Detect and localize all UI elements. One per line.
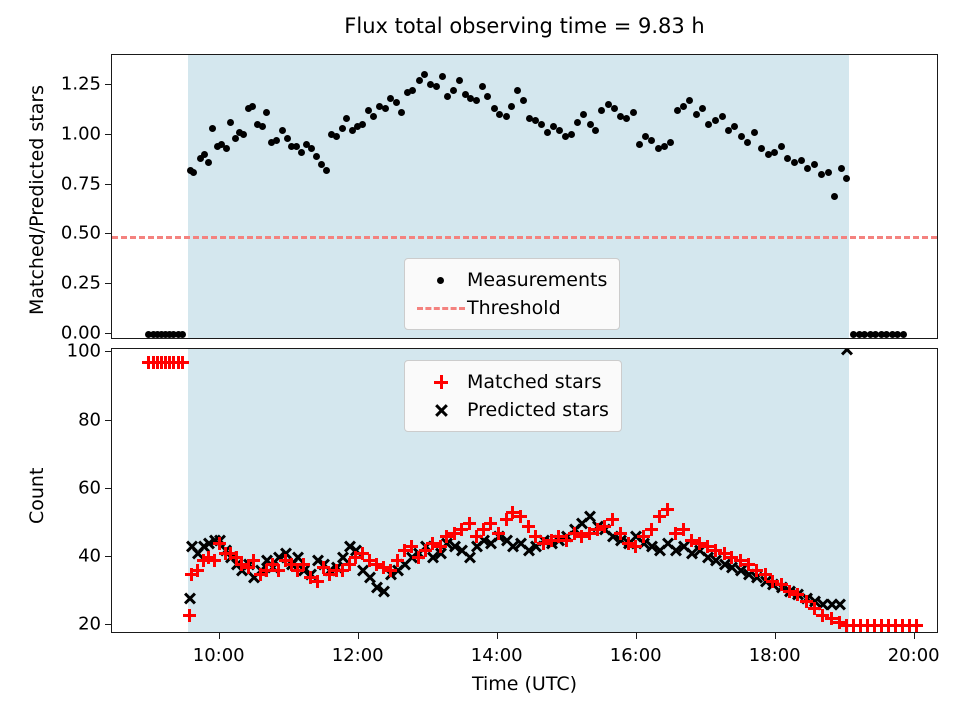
y-tick-label: 60 [43,477,101,498]
measurements-marker-icon [415,269,467,291]
legend-label-matched-stars: Matched stars [467,371,601,393]
y-tick-mark [105,233,111,234]
measurement-point [201,151,208,158]
matched-star-point [147,356,160,369]
threshold-dashed-line-icon [415,297,467,319]
y-tick-label: 80 [43,409,101,430]
top-panel-legend[interactable]: Measurements Threshold [404,258,620,330]
matched-stars-plus-icon [415,371,467,393]
matched-star-point [176,356,189,369]
legend-label-threshold: Threshold [467,297,561,319]
y-tick-mark [105,556,111,557]
legend-label-predicted-stars: Predicted stars [467,399,609,421]
y-tick-label: 100 [43,341,101,362]
legend-item-predicted-stars: Predicted stars [415,396,609,424]
y-tick-label: 40 [43,546,101,567]
matched-star-point [151,356,164,369]
measurement-point [313,153,320,160]
x-tick-mark [914,633,915,639]
y-tick-label: 1.00 [43,123,101,144]
matched-star-point [854,619,867,632]
y-tick-label: 1.25 [43,73,101,94]
x-tick-label: 18:00 [749,645,801,666]
y-tick-mark [105,420,111,421]
measurement-point [279,127,286,134]
bottom-axis-y-label: Count [26,467,48,523]
matched-star-point [882,619,895,632]
measurement-point [798,157,805,164]
measurement-point [339,125,346,132]
measurement-point [674,107,681,114]
x-tick-mark [219,633,220,639]
y-tick-mark [105,84,111,85]
measurement-point [259,123,266,130]
measurement-point [179,331,186,338]
figure-title: Flux total observing time = 9.83 h [111,14,938,38]
y-tick-mark [105,283,111,284]
x-tick-label: 14:00 [471,645,523,666]
matched-star-point [155,356,168,369]
measurement-point [771,149,778,156]
matched-star-point [910,619,923,632]
y-tick-mark [105,134,111,135]
matched-star-point [163,356,176,369]
x-tick-label: 16:00 [610,645,662,666]
y-tick-mark [105,333,111,334]
matched-star-point [875,619,888,632]
x-tick-label: 20:00 [888,645,940,666]
x-tick-mark [358,633,359,639]
measurement-point [791,159,798,166]
x-axis-label: Time (UTC) [111,673,938,695]
y-tick-label: 20 [43,614,101,635]
matched-star-point [142,356,155,369]
legend-item-threshold: Threshold [415,294,607,322]
matched-star-point [847,619,860,632]
y-tick-label: 0.50 [43,223,101,244]
y-tick-mark [105,184,111,185]
legend-label-measurements: Measurements [467,269,607,291]
x-tick-mark [775,633,776,639]
x-tick-mark [497,633,498,639]
matched-star-point [172,356,185,369]
predicted-stars-cross-icon [415,399,467,421]
measurement-point [843,175,850,182]
matched-star-point [903,619,916,632]
measurement-point [900,331,907,338]
measurement-point [382,105,389,112]
x-tick-label: 10:00 [193,645,245,666]
measurement-point [232,135,239,142]
measurement-point [712,117,719,124]
y-tick-label: 0.25 [43,273,101,294]
matched-star-point [889,619,902,632]
threshold-line [112,236,937,239]
legend-item-matched-stars: Matched stars [415,368,609,396]
matched-star-point [868,619,881,632]
top-axis-y-label: Matched/Predicted stars [26,84,48,314]
matched-star-point [896,619,909,632]
x-tick-mark [636,633,637,639]
y-tick-mark [105,624,111,625]
x-tick-label: 12:00 [332,645,384,666]
matplotlib-figure: Flux total observing time = 9.83 h 0.000… [0,0,960,720]
legend-item-measurements: Measurements [415,266,607,294]
y-tick-mark [105,488,111,489]
matched-star-point [861,619,874,632]
bottom-panel-legend[interactable]: Matched stars Predicted stars [404,360,622,432]
measurement-point [190,169,197,176]
measurement-point [778,143,785,150]
measurement-point [284,135,291,142]
measurement-point [758,145,765,152]
measurement-point [630,109,637,116]
matched-star-point [167,356,180,369]
y-tick-label: 0.75 [43,173,101,194]
measurement-point [719,113,726,120]
measurement-point [503,113,510,120]
y-tick-mark [105,351,111,352]
matched-star-point [159,356,172,369]
